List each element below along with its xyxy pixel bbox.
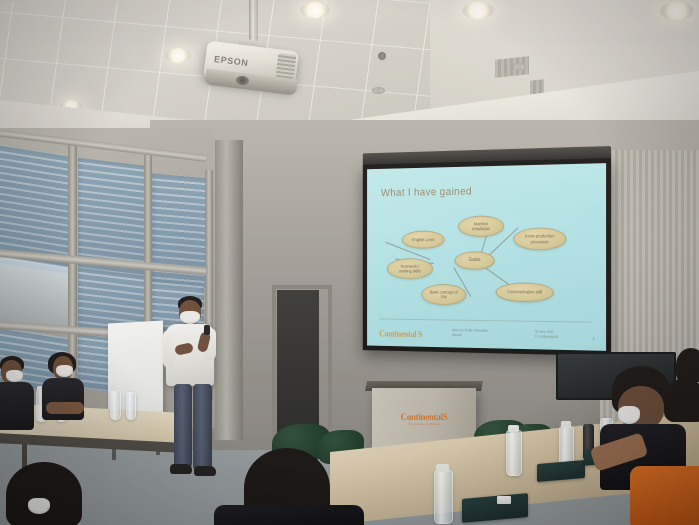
notebook-front-1 bbox=[462, 493, 528, 523]
sprinkler-head-1 bbox=[372, 87, 385, 94]
bottle-cap-front-1 bbox=[436, 464, 449, 472]
water-bottle-left-3 bbox=[110, 390, 121, 420]
projection-screen: What I have gained Machine installation … bbox=[363, 158, 611, 368]
ceiling-light-1 bbox=[165, 48, 191, 63]
mindmap-node-center-gains: Gains bbox=[455, 251, 495, 269]
attendee-far-right-hair bbox=[676, 348, 699, 382]
presentation-slide: What I have gained Machine installation … bbox=[367, 163, 606, 351]
ceiling-light-3 bbox=[462, 2, 494, 19]
attendee-front-left-mask bbox=[28, 498, 50, 514]
water-bottle-front-1 bbox=[434, 470, 453, 524]
presenter-face-mask bbox=[180, 311, 200, 324]
attendee-left-1-torso bbox=[0, 382, 34, 430]
presenter-left-leg bbox=[174, 384, 192, 468]
mindmap-node-label: Machine installation bbox=[472, 221, 490, 231]
ceiling-light-4 bbox=[660, 2, 694, 20]
slide-title: What I have gained bbox=[381, 186, 472, 199]
attendee-orange-torso bbox=[630, 466, 699, 525]
attendee-left-2-mask bbox=[56, 365, 73, 377]
wall-pillar bbox=[213, 140, 243, 440]
projector-vent-grill bbox=[276, 53, 297, 79]
slide-footer-right: 30 June 2020 © Continental AG bbox=[535, 330, 558, 340]
water-bottle-left-4 bbox=[126, 392, 136, 420]
attendee-left-1-mask bbox=[6, 370, 23, 382]
attendee-front-left-hair bbox=[6, 462, 82, 525]
mindmap-node-teamwork: Teamwork / working skills bbox=[387, 258, 433, 279]
attendee-front-shoulders bbox=[214, 505, 364, 525]
water-bottle-front-2 bbox=[506, 430, 522, 476]
ceiling-light-2 bbox=[300, 2, 330, 18]
mindmap-node-english-level: English Level bbox=[402, 230, 445, 248]
presenter-left-shoe bbox=[170, 464, 192, 474]
bottle-cap-front-3 bbox=[561, 421, 571, 427]
mindmap-center-label: Gains bbox=[469, 258, 481, 264]
mindmap-node-machine-installation: Machine installation bbox=[458, 215, 504, 237]
conference-room-photo: EPSON What I have gained bbox=[0, 0, 699, 525]
bottle-cap-left-3 bbox=[111, 386, 118, 391]
sprinkler-head-2 bbox=[512, 63, 526, 71]
presenter-left-arm bbox=[163, 330, 175, 368]
presenter-right-shoe bbox=[194, 466, 216, 476]
slide-page-number: 9 bbox=[593, 337, 595, 341]
attendee-left-2-arm bbox=[46, 402, 84, 414]
mindmap-node-label: Teamwork / working skills bbox=[399, 264, 421, 274]
attendee-orange-hair bbox=[664, 378, 699, 422]
slide-footer-middle: Sprint for Textile Information Internal bbox=[452, 329, 488, 339]
presenter-right-leg bbox=[193, 384, 212, 470]
presentation-clicker[interactable] bbox=[204, 325, 210, 335]
smoke-detector bbox=[378, 52, 386, 60]
mindmap-node-know-production: Know production processes bbox=[513, 227, 566, 250]
attendee-black-mask bbox=[618, 406, 640, 424]
podium-tagline: The Future in Motion bbox=[388, 422, 460, 426]
doorway-opening bbox=[277, 290, 319, 440]
screen-border: What I have gained Machine installation … bbox=[363, 158, 611, 356]
mindmap-node-label: English Level bbox=[412, 237, 434, 242]
tissue-box bbox=[497, 496, 511, 504]
mindmap-node-label: Know production processes bbox=[525, 234, 555, 244]
podium-continental-logo: ContinentalЅ bbox=[388, 412, 460, 422]
mindmap-node-label: Basic concept of PM bbox=[430, 289, 458, 299]
mindmap-node-basic-concept-pm: Basic concept of PM bbox=[421, 284, 466, 305]
mindmap-node-communication-skill: Communication skill bbox=[496, 282, 554, 302]
slide-continental-logo: Continental Ѕ bbox=[379, 329, 422, 339]
bottle-cap-front-2 bbox=[508, 425, 519, 432]
mindmap-node-label: Communication skill bbox=[507, 290, 542, 295]
slide-footer-divider bbox=[379, 319, 592, 323]
